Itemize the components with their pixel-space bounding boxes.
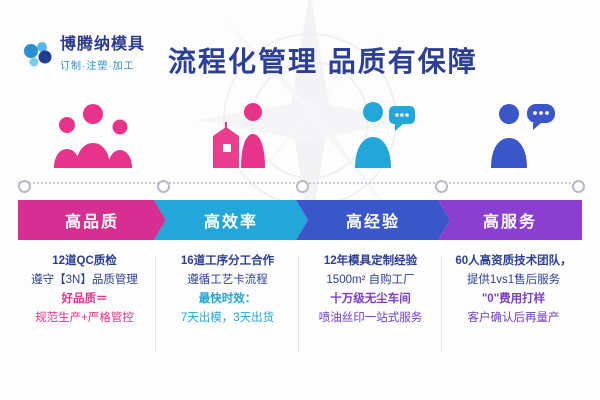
detail-column-service: 60人高资质技术团队， 提供1vs1售后服务 "0"费用打样 客户确认后再量产 — [443, 252, 584, 328]
ribbon-band: 高品质 高效率 高经验 高服务 — [18, 200, 582, 240]
detail-line: 12道QC质检 — [14, 252, 155, 271]
detail-line: 提供1vs1售后服务 — [443, 271, 584, 290]
detail-line: 遵守【3N】品质管理 — [14, 271, 155, 290]
detail-line: 好品质＝ — [14, 290, 155, 309]
icon-cell-quality — [35, 100, 155, 170]
timeline-node — [157, 180, 170, 193]
page-title: 流程化管理 品质有保障 — [168, 40, 508, 80]
band-segment-efficiency: 高效率 — [154, 200, 308, 240]
droplet-cluster-logo-icon — [22, 38, 56, 72]
detail-line: 16道工序分工合作 — [157, 252, 298, 271]
detail-line: 12年模具定制经验 — [300, 252, 441, 271]
detail-column-experience: 12年模具定制经验 1500m² 自购工厂 十万级无尘车间 喷油丝印一站式服务 — [300, 252, 441, 328]
brand-logo-text: 博腾纳模具 订制·注塑·加工 — [60, 36, 145, 72]
band-segment-quality: 高品质 — [18, 200, 166, 240]
detail-line: "0"费用打样 — [443, 290, 584, 309]
icon-row — [0, 100, 600, 170]
poster-canvas: 博腾纳模具 订制·注塑·加工 流程化管理 品质有保障 — [0, 0, 600, 400]
detail-line: 7天出模，3天出货 — [157, 309, 298, 328]
detail-line: 客户确认后再量产 — [443, 309, 584, 328]
timeline-node — [572, 180, 585, 193]
service-agent-icon — [462, 100, 582, 168]
icon-cell-experience — [322, 100, 442, 170]
brand-logo: 博腾纳模具 订制·注塑·加工 — [22, 36, 152, 76]
band-label: 高品质 — [18, 200, 166, 240]
timeline-node — [296, 180, 309, 193]
detail-line: 十万级无尘车间 — [300, 290, 441, 309]
people-group-icon — [35, 100, 155, 168]
detail-line: 规范生产+严格管控 — [14, 309, 155, 328]
detail-line: 遵循工艺卡流程 — [157, 271, 298, 290]
detail-column-efficiency: 16道工序分工合作 遵循工艺卡流程 最快时效： 7天出模，3天出货 — [157, 252, 298, 328]
timeline-axis — [18, 182, 582, 186]
detail-columns: 12道QC质检 遵守【3N】品质管理 好品质＝ 规范生产+严格管控 16道工序分… — [0, 252, 600, 362]
person-chat-icon — [322, 100, 442, 168]
band-label: 高效率 — [154, 200, 308, 240]
timeline-node — [435, 180, 448, 193]
brand-name: 博腾纳模具 — [60, 36, 145, 54]
brand-tagline: 订制·注塑·加工 — [60, 57, 145, 72]
factory-worker-icon — [180, 100, 300, 168]
band-segment-service: 高服务 — [438, 200, 582, 240]
icon-cell-efficiency — [180, 100, 300, 170]
detail-line: 1500m² 自购工厂 — [300, 271, 441, 290]
timeline-node — [18, 180, 31, 193]
band-segment-experience: 高经验 — [296, 200, 450, 240]
detail-line: 最快时效： — [157, 290, 298, 309]
detail-line: 60人高资质技术团队， — [443, 252, 584, 271]
band-label: 高服务 — [438, 200, 582, 240]
icon-cell-service — [462, 100, 582, 170]
detail-column-quality: 12道QC质检 遵守【3N】品质管理 好品质＝ 规范生产+严格管控 — [14, 252, 155, 328]
detail-line: 喷油丝印一站式服务 — [300, 309, 441, 328]
band-label: 高经验 — [296, 200, 450, 240]
